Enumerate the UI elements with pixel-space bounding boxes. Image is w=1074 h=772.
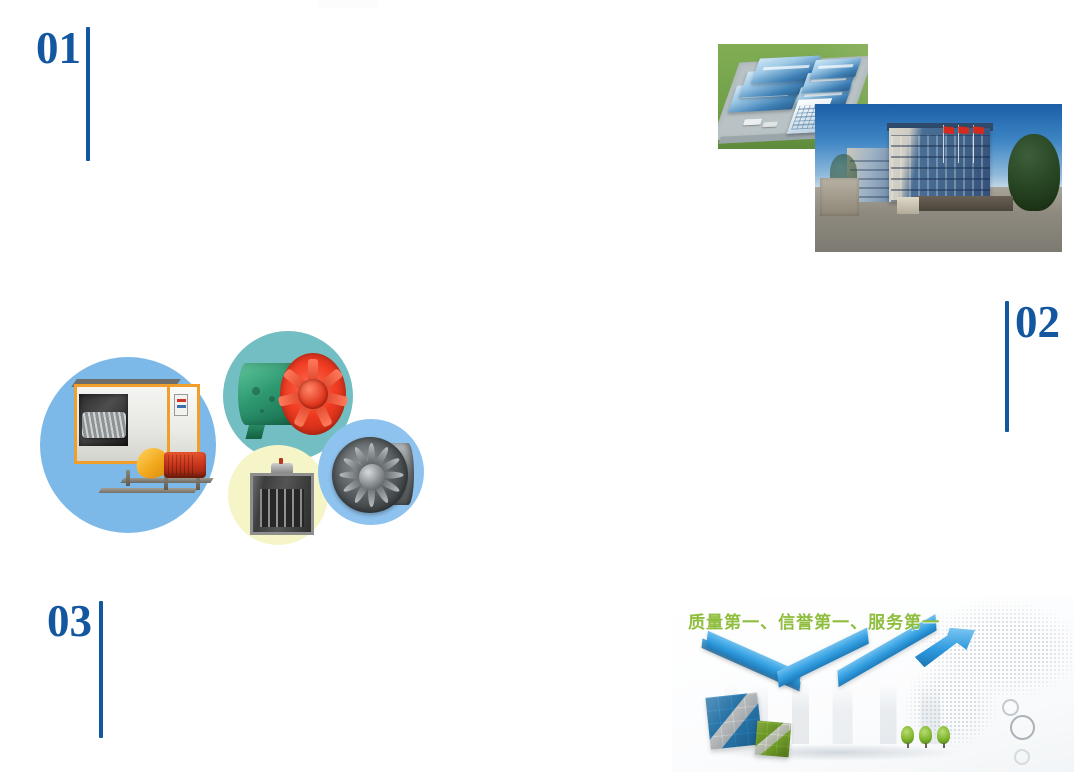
photo-gatehouse: [820, 178, 860, 216]
product-metal-axial-fan: [330, 435, 416, 515]
growth-arrow-marketing-banner: 质量第一、信誉第一、服务第一: [672, 596, 1074, 772]
axial-fan-impeller-ring: [280, 353, 346, 435]
cabinet-impeller: [82, 412, 126, 438]
product-axial-flow-fan: [236, 349, 348, 445]
section-number-01: 01: [36, 24, 81, 72]
photo-planter: [897, 197, 919, 213]
section-rule-01: [86, 27, 90, 161]
office-building-photograph: [815, 104, 1062, 252]
photo-tree: [1008, 134, 1060, 211]
section-marker-03: 03: [47, 597, 103, 738]
factory-render-truck: [762, 121, 778, 127]
banner-tagline: 质量第一、信誉第一、服务第一: [688, 608, 940, 633]
decorative-ring: [1002, 699, 1019, 716]
tree-icon: [919, 726, 932, 744]
section-marker-02: 02: [1005, 298, 1060, 432]
damper-louvers: [260, 489, 304, 527]
product-collage: [38, 323, 428, 545]
photo-boundary-wall: [914, 196, 1013, 211]
product-cabinet-centrifugal-fan-unit: [60, 378, 215, 508]
cabinet-base-rail: [98, 488, 197, 493]
top-edge-artifact: [318, 0, 378, 8]
red-flag: [943, 126, 954, 134]
section-rule-03: [99, 601, 103, 738]
photo-main-building: [889, 128, 990, 202]
blue-cube-cluster: [706, 693, 763, 750]
decorative-ring: [1010, 715, 1035, 740]
section-rule-02: [1005, 301, 1009, 432]
factory-render-truck: [742, 118, 761, 125]
cabinet-motor: [164, 452, 206, 478]
green-cube-cluster: [755, 721, 792, 758]
decorative-ring: [1014, 749, 1030, 765]
red-flag: [958, 126, 969, 134]
tree-icon: [937, 726, 950, 744]
section-number-03: 03: [47, 597, 92, 645]
factory-render-workshop: [809, 58, 862, 79]
cabinet-leg: [126, 470, 130, 486]
section-number-02: 02: [1015, 298, 1060, 346]
metal-fan-hub: [359, 464, 385, 490]
red-flag: [973, 126, 984, 134]
product-air-damper-filter-unit: [246, 463, 318, 539]
metal-fan-shell: [332, 437, 408, 513]
damper-frame: [250, 473, 314, 535]
arrow-segment-up: [777, 627, 869, 688]
poster-canvas: 01 02: [0, 0, 1074, 772]
section-marker-01: 01: [36, 24, 90, 161]
axial-fan-hub: [298, 379, 328, 409]
cabinet-control-panel: [174, 394, 188, 416]
tree-icon: [901, 726, 914, 744]
